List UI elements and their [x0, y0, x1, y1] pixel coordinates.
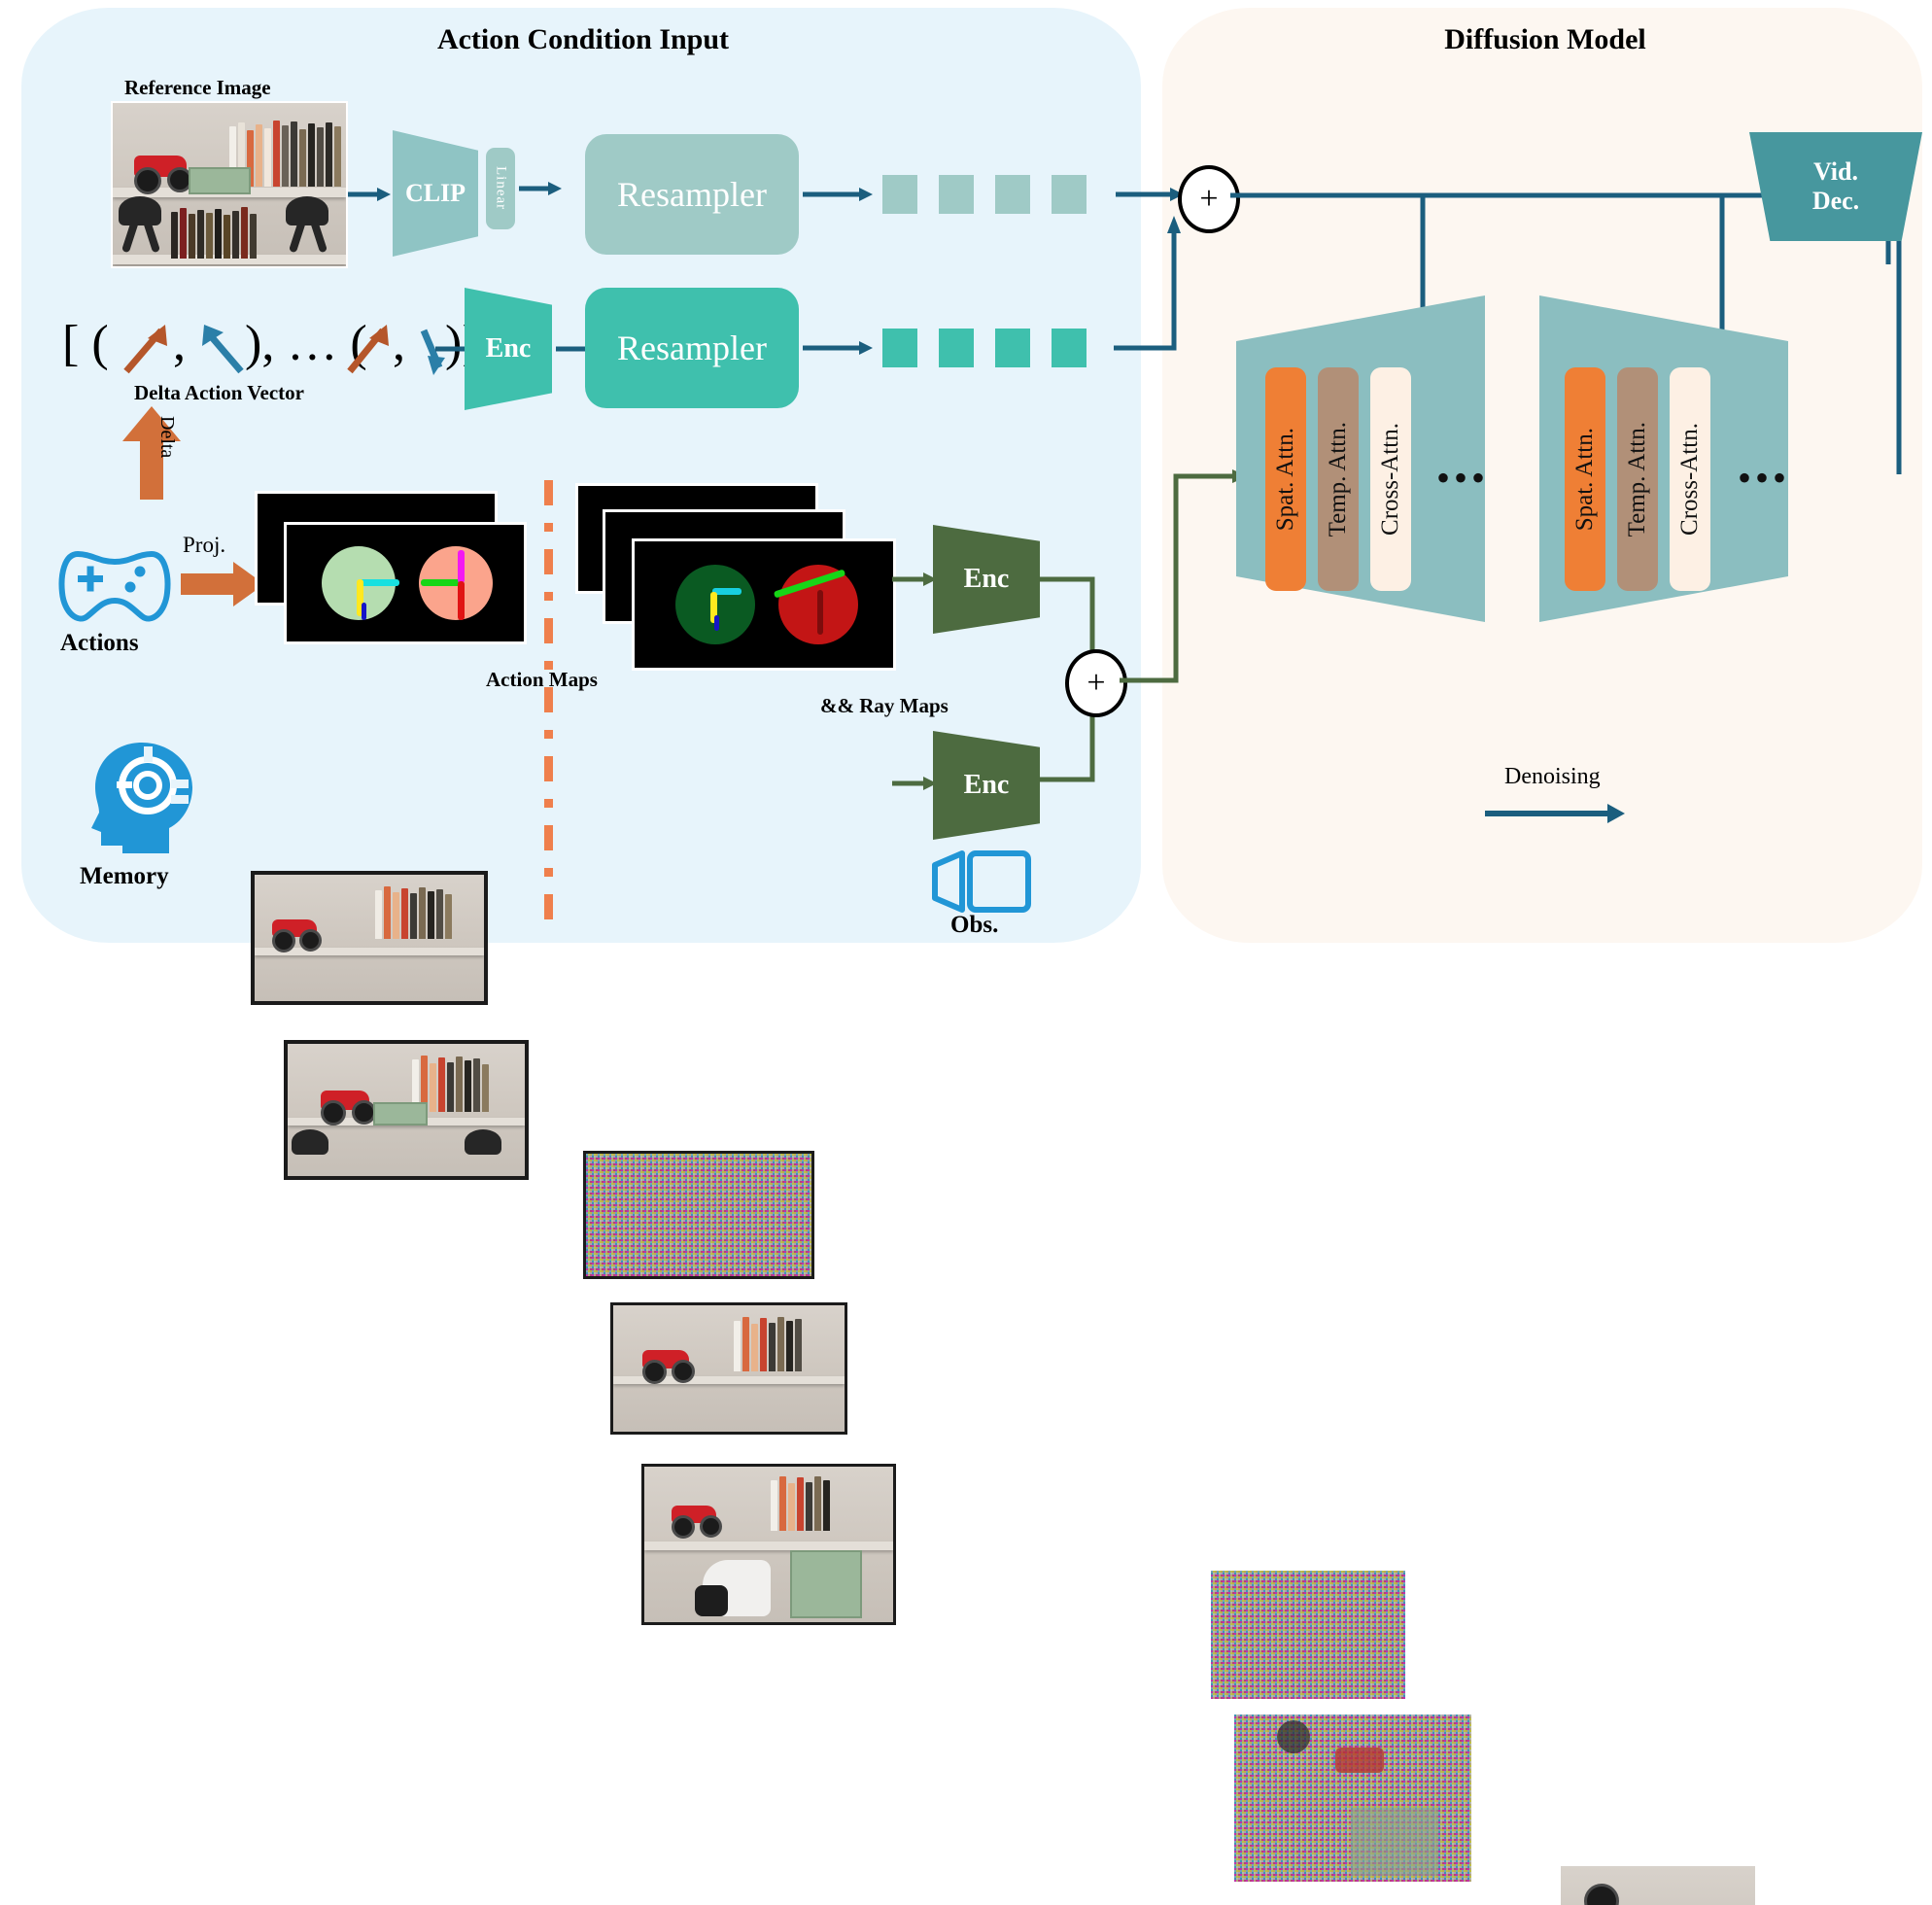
temp-attn-pill: Temp. Attn. — [1617, 367, 1658, 591]
memory-brain-icon — [87, 739, 196, 853]
temp-attn-label: Temp. Attn. — [1325, 422, 1352, 537]
arrow-linear-to-resampler-image — [519, 179, 562, 198]
temp-attn-label: Temp. Attn. — [1624, 422, 1651, 537]
clip-encoder-block: CLIP — [393, 130, 478, 257]
cross-attn-pill: Cross-Attn. — [1670, 367, 1710, 591]
denoised-output-frame-back — [1561, 1866, 1755, 1905]
arrow-refimage-to-clip — [348, 185, 391, 204]
action-map-right-stick-red — [458, 581, 465, 620]
unet-down-block-ellipsis: ••• — [1436, 459, 1489, 498]
latent-sum-node: + — [1065, 649, 1127, 717]
clip-label: CLIP — [393, 130, 478, 257]
proj-label: Proj. — [183, 533, 225, 558]
action-map-right-stick-green — [421, 579, 462, 586]
resampler-action-label: Resampler — [617, 328, 767, 368]
linear-label: Linear — [493, 166, 509, 210]
denoising-input-frame-front — [1234, 1714, 1471, 1882]
camera-obs-icon — [929, 849, 1034, 914]
reference-image-thumbnail — [111, 101, 348, 268]
noisy-obs-frame-mid — [610, 1302, 847, 1435]
panel-title-diffusion-model: Diffusion Model — [1263, 23, 1827, 56]
spat-attn-label: Spat. Attn. — [1272, 428, 1299, 531]
unet-down-block-layers: Spat. Attn. Temp. Attn. Cross-Attn. — [1265, 367, 1411, 591]
ray-map-left-stick-blue — [714, 615, 719, 631]
temp-attn-pill: Temp. Attn. — [1318, 367, 1359, 591]
spat-attn-pill: Spat. Attn. — [1565, 367, 1605, 591]
arrow-resampler-to-image-tokens — [803, 185, 873, 204]
denoising-label: Denoising — [1504, 764, 1601, 790]
actions-icon-label: Actions — [60, 630, 139, 657]
arrow-latent-sum-to-unet — [1120, 461, 1252, 684]
svg-text:), … (: ), … ( — [245, 316, 367, 371]
plus-symbol: + — [1199, 183, 1218, 216]
noisy-obs-frame-back — [583, 1151, 814, 1279]
action-map-frame-front — [284, 522, 527, 644]
enc-raymap-label: Enc — [933, 525, 1040, 634]
arrow-raymaps-to-enc — [892, 570, 937, 589]
delta-action-vector-expression: [ ( , ), … ( , )] — [58, 311, 466, 379]
action-encoder-block: Enc — [465, 288, 552, 410]
denoising-arrow — [1485, 803, 1625, 824]
delta-arrow-label: Delta — [155, 416, 178, 458]
action-token — [1052, 329, 1087, 367]
cross-attn-label: Cross-Attn. — [1676, 423, 1704, 536]
ray-map-right-stick-darkred — [817, 590, 823, 635]
enc-action-label: Enc — [465, 288, 552, 410]
ray-maps-label: && Ray Maps — [820, 694, 949, 718]
obs-icon-label: Obs. — [950, 912, 998, 939]
action-token-row — [882, 329, 1087, 367]
cross-attn-pill: Cross-Attn. — [1370, 367, 1411, 591]
action-map-right-stick-magenta — [458, 550, 465, 583]
section-divider-dashdot — [544, 480, 553, 935]
noisy-obs-frame-front — [641, 1464, 896, 1625]
image-token — [882, 175, 917, 214]
latent-plus-symbol: + — [1087, 667, 1105, 700]
vid-dec-line-1: Vid. — [1813, 157, 1858, 187]
memory-frame-front — [284, 1040, 529, 1180]
gamepad-icon — [56, 546, 173, 628]
unet-up-block-layers: Spat. Attn. Temp. Attn. Cross-Attn. — [1565, 367, 1710, 591]
ray-map-frame-front — [632, 538, 896, 671]
action-token — [939, 329, 974, 367]
delta-action-vector-label: Delta Action Vector — [134, 381, 304, 405]
resampler-image-block: Resampler — [585, 134, 799, 255]
memory-frame-back — [251, 871, 488, 1005]
action-map-left-stick-cyan — [359, 579, 399, 586]
obs-encoder-block: Enc — [933, 731, 1040, 840]
image-token — [995, 175, 1030, 214]
resampler-action-block: Resampler — [585, 288, 799, 408]
spat-attn-label: Spat. Attn. — [1571, 428, 1599, 531]
reference-image-label: Reference Image — [124, 76, 271, 100]
svg-text:[ (: [ ( — [62, 316, 109, 371]
svg-text:,: , — [393, 316, 405, 371]
video-decoder-block: Vid. Dec. — [1749, 132, 1922, 241]
raymap-encoder-block: Enc — [933, 525, 1040, 634]
linear-projection-block: Linear — [486, 148, 515, 229]
resampler-image-label: Resampler — [617, 174, 767, 215]
denoising-input-frame-back — [1211, 1571, 1405, 1699]
action-map-left-stick-blue — [362, 603, 366, 620]
proj-arrow — [181, 562, 264, 606]
action-token — [995, 329, 1030, 367]
image-token-row — [882, 175, 1087, 214]
cross-attn-label: Cross-Attn. — [1377, 423, 1404, 536]
arrow-obs-to-enc — [892, 774, 937, 793]
memory-icon-label: Memory — [80, 863, 169, 890]
image-token — [939, 175, 974, 214]
arrow-resampler-to-action-tokens — [803, 338, 873, 358]
panel-title-action-condition-input: Action Condition Input — [292, 23, 875, 56]
svg-text:,: , — [173, 316, 186, 371]
action-token — [882, 329, 917, 367]
vid-dec-labels: Vid. Dec. — [1749, 132, 1922, 241]
spat-attn-pill: Spat. Attn. — [1265, 367, 1306, 591]
vid-dec-line-2: Dec. — [1812, 187, 1859, 216]
action-maps-label: Action Maps — [486, 668, 598, 692]
arrow-image-tokens-to-sum — [1116, 185, 1186, 204]
enc-obs-label: Enc — [933, 731, 1040, 840]
image-token — [1052, 175, 1087, 214]
